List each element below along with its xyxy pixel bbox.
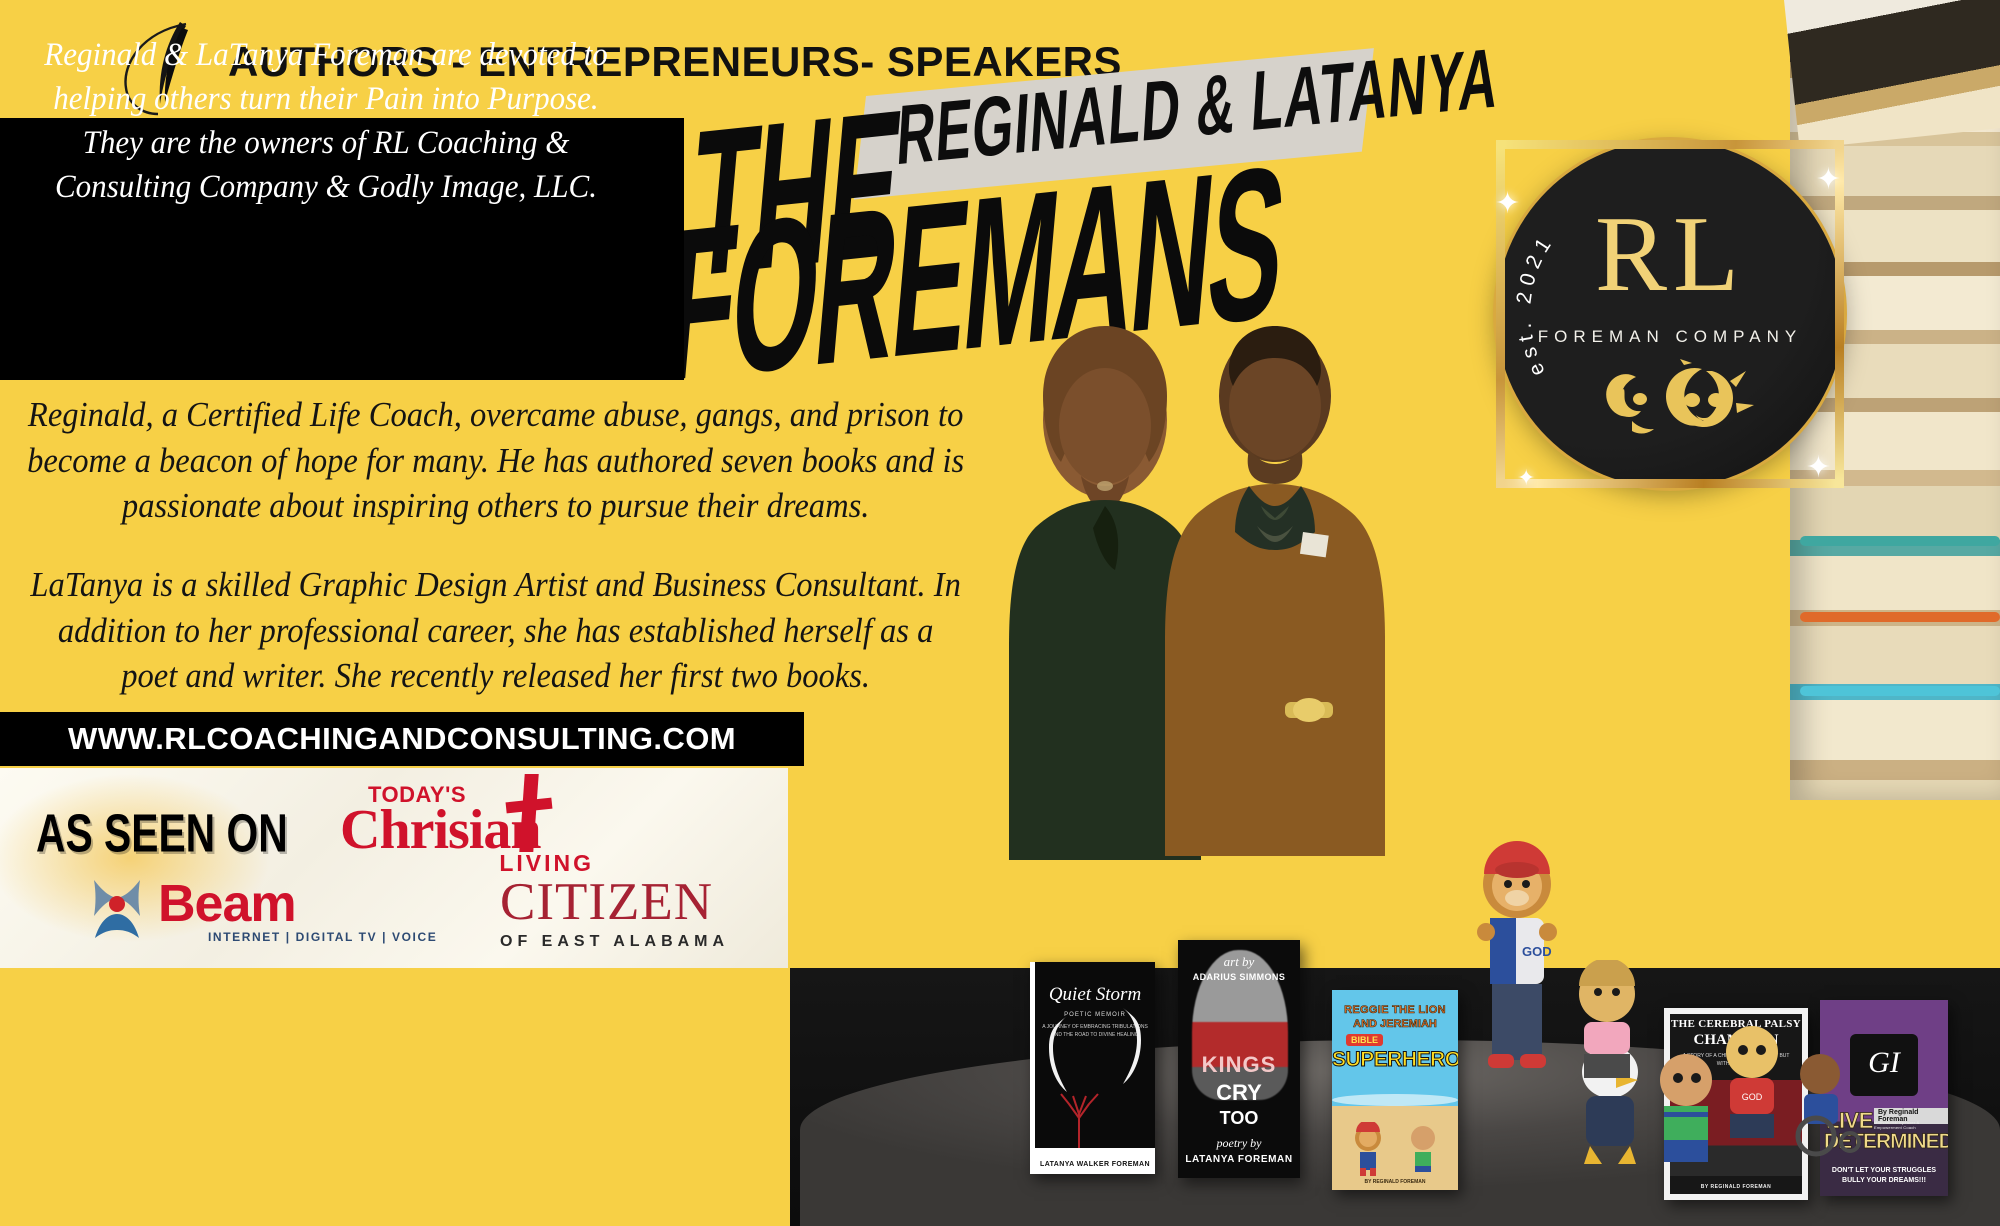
boy-character-icon [1406,1124,1440,1178]
mascot-lion-main: GOD [1462,840,1572,1075]
tilted-book-image [1784,0,2000,149]
kings-author: LATANYA FOREMAN [1178,1154,1300,1165]
rl-monogram: RL [1505,201,1835,309]
ld-byline-sub: Motivational Speaker & Empowerment Coach [1874,1120,1948,1130]
citizen-logo: CITIZEN OF EAST ALABAMA [500,876,740,946]
intro-text: Reginald & LaTanya Foreman are devoted t… [44,34,608,210]
citizen-tagline: OF EAST ALABAMA [500,933,740,951]
kings-poetry-label: poetry by [1178,1136,1300,1151]
sparkle-icon-1: ✦ [1495,189,1520,219]
sparkle-icon-4: ✦ [1517,467,1535,489]
beam-person-icon [84,874,150,940]
twin-lion-heads-icon [1505,359,1835,450]
website-url[interactable]: WWW.RLCOACHINGANDCONSULTING.COM [0,712,804,766]
pencil-teal [1800,536,2000,546]
todays-christian-living-logo: TODAY'S Chrisian LIVING [340,782,590,874]
kings-title-3: TOO [1178,1108,1300,1129]
rl-foreman-company-logo: est. 2021 RL FOREMAN COMPANY [1496,140,1844,488]
svg-text:GOD: GOD [1742,1092,1763,1102]
ld-tagline: DON'T LET YOUR STRUGGLES BULLY YOUR DREA… [1820,1166,1948,1186]
beam-tagline: INTERNET | DIGITAL TV | VOICE [208,930,437,944]
book-bible-superheroes: REGGIE THE LION AND JEREMIAH BIBLE SUPER… [1332,990,1458,1190]
tcl-chris: Chris [340,799,469,861]
mascot-cub: GOD [1712,1020,1792,1145]
quiet-storm-title: Quiet Storm [1035,984,1155,1006]
book-quiet-storm: Quiet Storm POETIC MEMOIR A JOURNEY OF E… [1030,962,1155,1174]
citizen-wordmark: CITIZEN [500,876,740,929]
company-name: FOREMAN COMPANY [1505,327,1835,347]
promo-poster: AUTHORS - ENTREPRENEURS- SPEAKERS REGINA… [0,0,2000,1226]
superheroes-author: BY REGINALD FOREMAN [1332,1179,1458,1185]
superheroes-bible-badge: BIBLE [1346,1034,1383,1046]
as-seen-on-label: AS SEEN ON [36,804,288,865]
lion-character-icon [1348,1122,1388,1178]
bio-paragraph-latanya: LaTanya is a skilled Graphic Design Arti… [26,562,965,699]
superheroes-title-3: SUPERHEROES [1332,1048,1458,1072]
sparkle-icon-2: ✦ [1816,165,1841,195]
superheroes-title-1: REGGIE THE LION [1332,1004,1458,1016]
wave-graphic [1332,1094,1458,1106]
kings-artist: ADARIUS SIMMONS [1178,972,1300,982]
kings-title-2: CRY [1178,1080,1300,1106]
beam-logo: Beam INTERNET | DIGITAL TV | VOICE [84,872,384,946]
kings-art-by-label: art by [1178,954,1300,970]
bio-paragraph-reginald: Reginald, a Certified Life Coach, overca… [26,392,965,529]
sparkle-icon-3: ✦ [1806,453,1831,483]
pencil-orange [1800,612,2000,622]
mascot-wheelchair-character [1786,1048,1872,1163]
kings-title-1: KINGS [1178,1052,1300,1078]
face-silhouette-right [1113,1006,1153,1086]
pencil-blue [1800,686,2000,696]
couple-photo [985,300,1445,860]
superheroes-title-2: AND JEREMIAH [1332,1018,1458,1030]
beam-wordmark: Beam [158,874,296,934]
svg-text:GOD: GOD [1522,944,1552,959]
book-kings-cry-too: art by ADARIUS SIMMONS KINGS CRY TOO poe… [1178,940,1300,1178]
quiet-storm-author: LATANYA WALKER FOREMAN [1035,1161,1155,1168]
mascot-lioness [1562,960,1652,1085]
face-silhouette-left [1037,1014,1077,1094]
cp-author: BY REGINALD FOREMAN [1670,1184,1802,1190]
